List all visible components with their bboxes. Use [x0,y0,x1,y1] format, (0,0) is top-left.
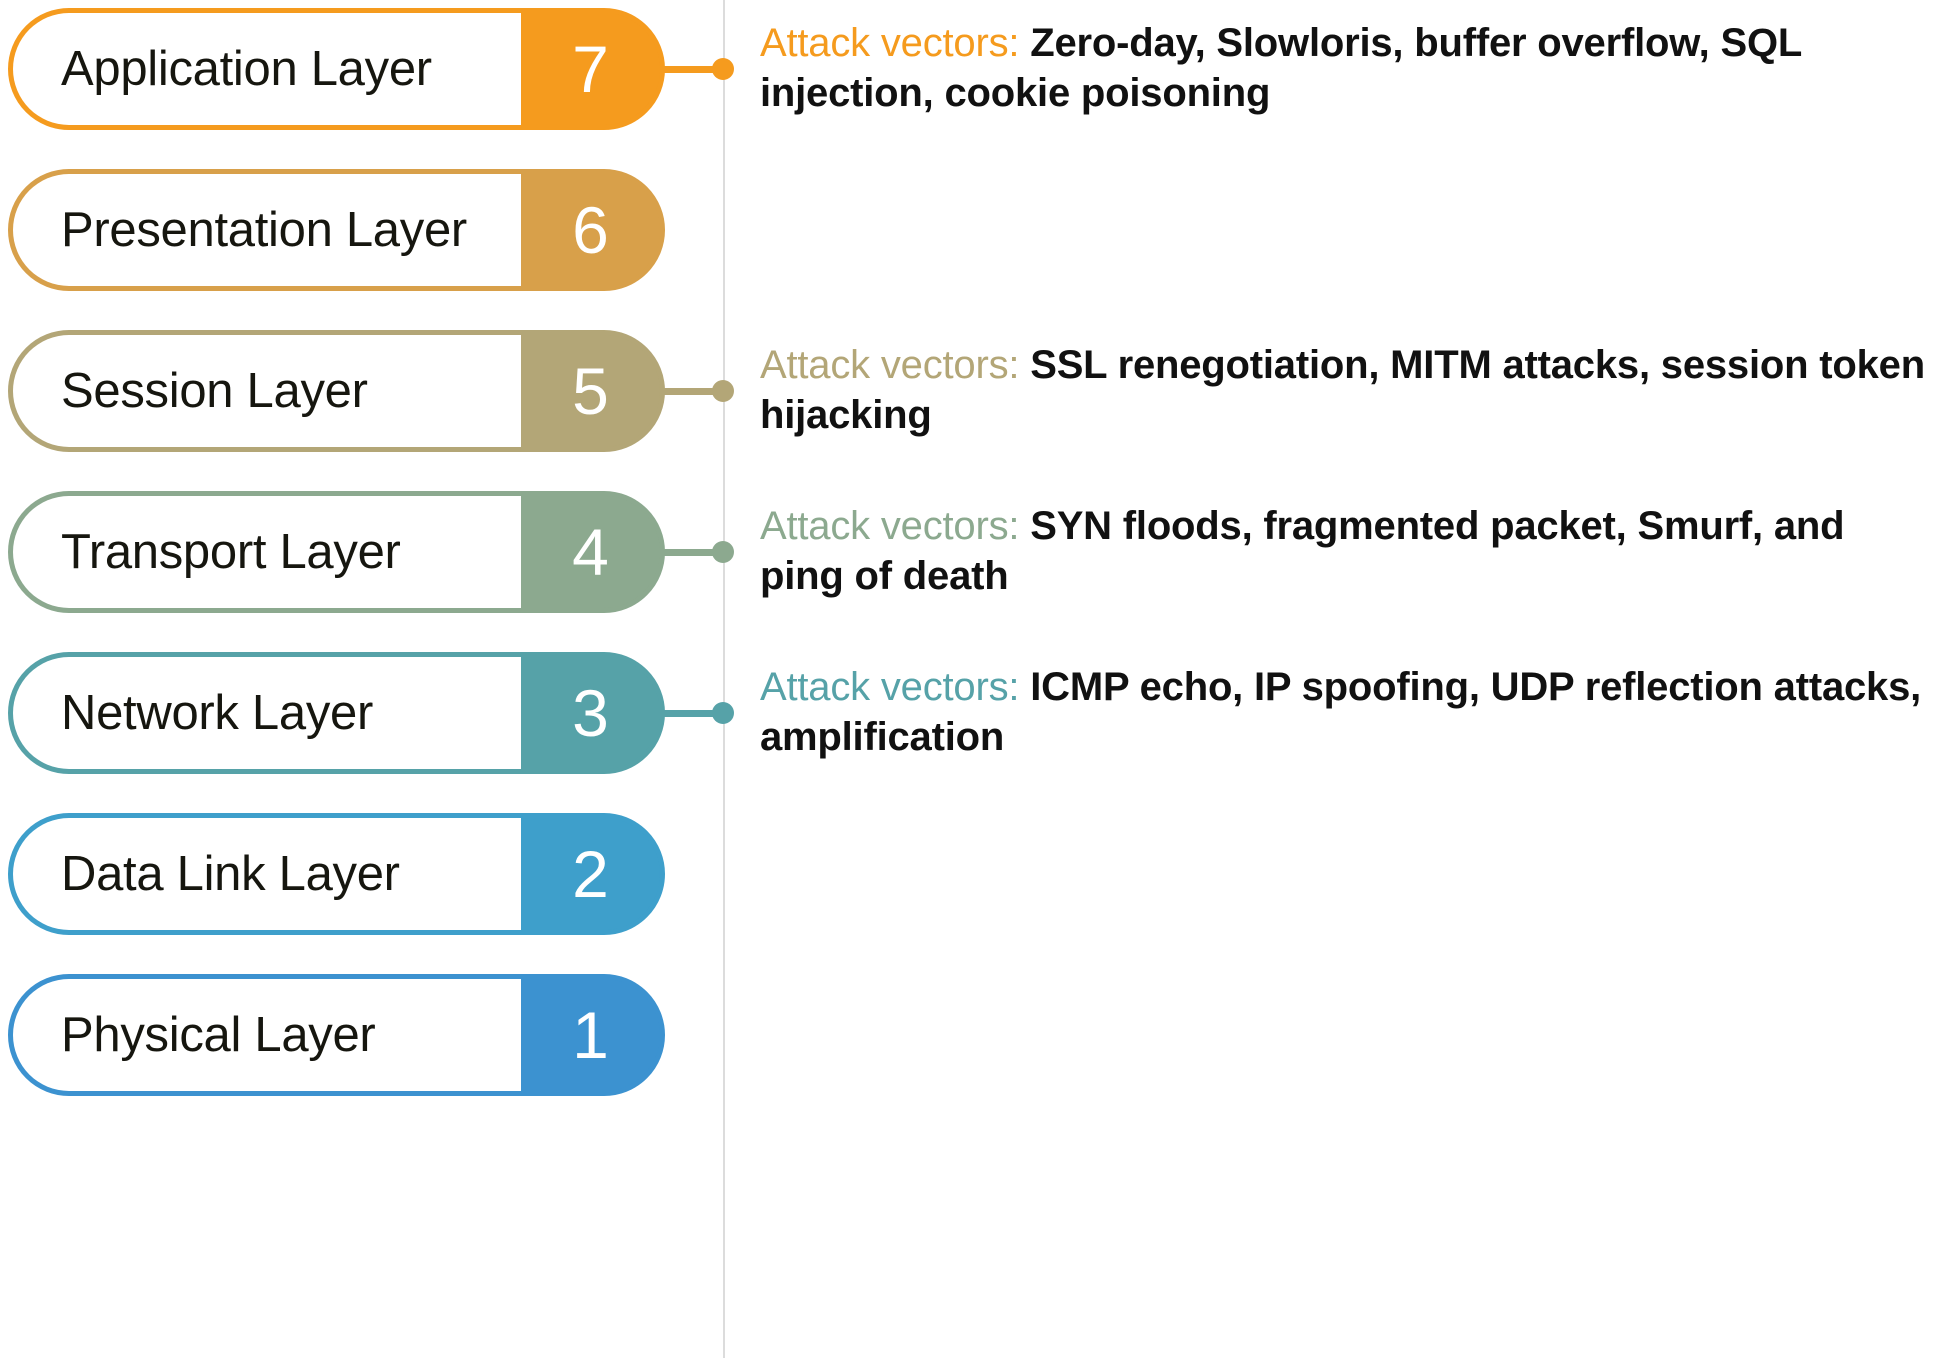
attack-vectors-annotation-4: Attack vectors: SYN floods, fragmented p… [760,501,1935,602]
connector-line-3 [663,702,734,724]
connector-stub [663,388,715,395]
attack-vectors-annotation-3: Attack vectors: ICMP echo, IP spoofing, … [760,662,1935,763]
vertical-divider [723,0,725,1358]
attack-vectors-annotation-7: Attack vectors: Zero-day, Slowloris, buf… [760,18,1935,119]
connector-dot [712,541,734,563]
layer-number-value: 5 [572,358,609,424]
layer-pill-2[interactable]: Data Link Layer2 [8,813,665,935]
connector-dot [712,702,734,724]
layer-pill-6[interactable]: Presentation Layer6 [8,169,665,291]
layer-pill-5[interactable]: Session Layer5 [8,330,665,452]
connector-stub [663,710,715,717]
connector-stub [663,66,715,73]
osi-diagram: Application Layer7Attack vectors: Zero-d… [0,0,1939,1358]
connector-stub [663,549,715,556]
attack-vectors-label: Attack vectors: [760,21,1019,65]
layer-name-box: Network Layer [13,657,521,769]
attack-vectors-label: Attack vectors: [760,504,1019,548]
layer-pill-3[interactable]: Network Layer3 [8,652,665,774]
attack-vectors-label: Attack vectors: [760,343,1019,387]
connector-dot [712,58,734,80]
layer-name-box: Presentation Layer [13,174,521,286]
layer-number-value: 7 [572,36,609,102]
layer-number-value: 6 [572,197,609,263]
layer-number-value: 3 [572,680,609,746]
attack-vectors-label: Attack vectors: [760,665,1019,709]
layer-name-label: Transport Layer [61,524,401,580]
layer-name-label: Network Layer [61,685,373,741]
layer-number-box: 5 [521,335,660,447]
layer-number-value: 4 [572,519,609,585]
connector-dot [712,380,734,402]
layer-number-value: 1 [572,1002,609,1068]
layer-number-box: 4 [521,496,660,608]
layer-name-box: Session Layer [13,335,521,447]
layer-name-box: Application Layer [13,13,521,125]
layer-name-label: Session Layer [61,363,368,419]
layer-pill-1[interactable]: Physical Layer1 [8,974,665,1096]
layer-pill-7[interactable]: Application Layer7 [8,8,665,130]
layer-number-box: 2 [521,818,660,930]
layer-name-box: Data Link Layer [13,818,521,930]
attack-vectors-annotation-5: Attack vectors: SSL renegotiation, MITM … [760,340,1935,441]
layer-name-label: Physical Layer [61,1007,375,1063]
layer-pill-4[interactable]: Transport Layer4 [8,491,665,613]
layer-name-label: Application Layer [61,41,432,97]
layer-name-box: Transport Layer [13,496,521,608]
layer-name-label: Data Link Layer [61,846,400,902]
layer-number-box: 6 [521,174,660,286]
layer-number-value: 2 [572,841,609,907]
connector-line-5 [663,380,734,402]
layer-number-box: 1 [521,979,660,1091]
layer-name-box: Physical Layer [13,979,521,1091]
connector-line-7 [663,58,734,80]
layer-number-box: 3 [521,657,660,769]
connector-line-4 [663,541,734,563]
layer-name-label: Presentation Layer [61,202,467,258]
layer-number-box: 7 [521,13,660,125]
